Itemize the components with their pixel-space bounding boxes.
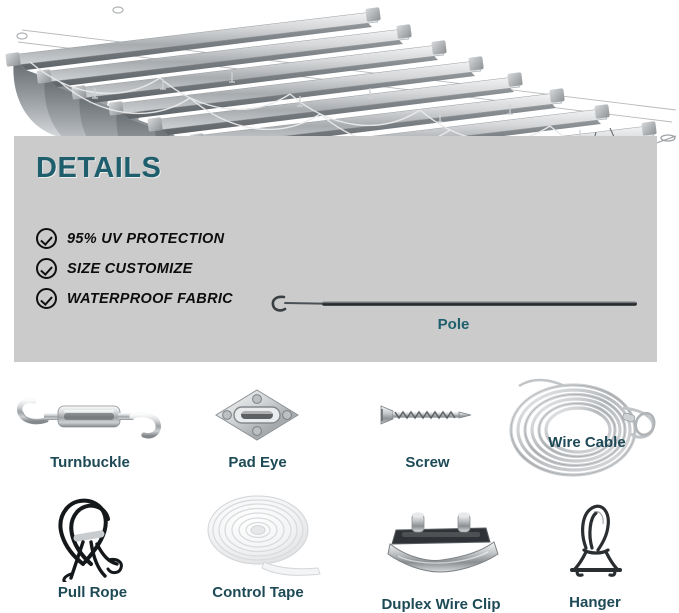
accessory-label: Hanger <box>520 594 670 611</box>
details-panel: DETAILS 95% UV PROTECTION SIZE CUSTOMIZE… <box>14 136 657 362</box>
check-circle-icon <box>36 228 57 249</box>
accessory-wire-cable: Wire Cable <box>495 374 679 489</box>
accessory-label: Duplex Wire Clip <box>352 596 530 613</box>
accessory-turnbuckle: Turnbuckle <box>0 380 180 455</box>
pull-rope-icon <box>5 490 180 587</box>
accessory-label: Control Tape <box>172 584 344 601</box>
accessory-pad-eye: Pad Eye <box>170 380 345 455</box>
accessory-label: Screw <box>345 454 510 471</box>
feature-item-waterproof-fabric: WATERPROOF FABRIC <box>36 288 233 309</box>
turnbuckle-icon <box>0 380 180 455</box>
accessory-control-tape: Control Tape <box>172 490 344 587</box>
accessory-label: Pad Eye <box>170 454 345 471</box>
accessory-screw: Screw <box>345 380 510 455</box>
wire-cable-coil-icon <box>495 374 679 489</box>
feature-label: SIZE CUSTOMIZE <box>67 261 193 277</box>
control-tape-coil-icon <box>172 490 344 587</box>
check-circle-icon <box>36 288 57 309</box>
check-circle-icon <box>36 258 57 279</box>
accessory-grid: Turnbuckle <box>0 372 679 611</box>
feature-label: WATERPROOF FABRIC <box>67 291 233 307</box>
hanger-clip-icon <box>520 500 670 583</box>
feature-item-size-customize: SIZE CUSTOMIZE <box>36 258 193 279</box>
screw-icon <box>345 380 510 455</box>
details-title: DETAILS <box>36 152 161 185</box>
pad-eye-icon <box>170 380 345 455</box>
accessory-hanger: Hanger <box>520 500 670 583</box>
accessory-duplex-wire-clip: Duplex Wire Clip <box>352 502 530 583</box>
pole-label: Pole <box>266 316 641 333</box>
accessory-pull-rope: Pull Rope <box>5 490 180 587</box>
accessory-label: Pull Rope <box>5 584 180 601</box>
feature-item-uv-protection: 95% UV PROTECTION <box>36 228 224 249</box>
accessory-label: Turnbuckle <box>0 454 180 471</box>
feature-label: 95% UV PROTECTION <box>67 231 224 247</box>
duplex-wire-clip-icon <box>352 502 530 583</box>
accessory-label: Wire Cable <box>495 434 679 451</box>
